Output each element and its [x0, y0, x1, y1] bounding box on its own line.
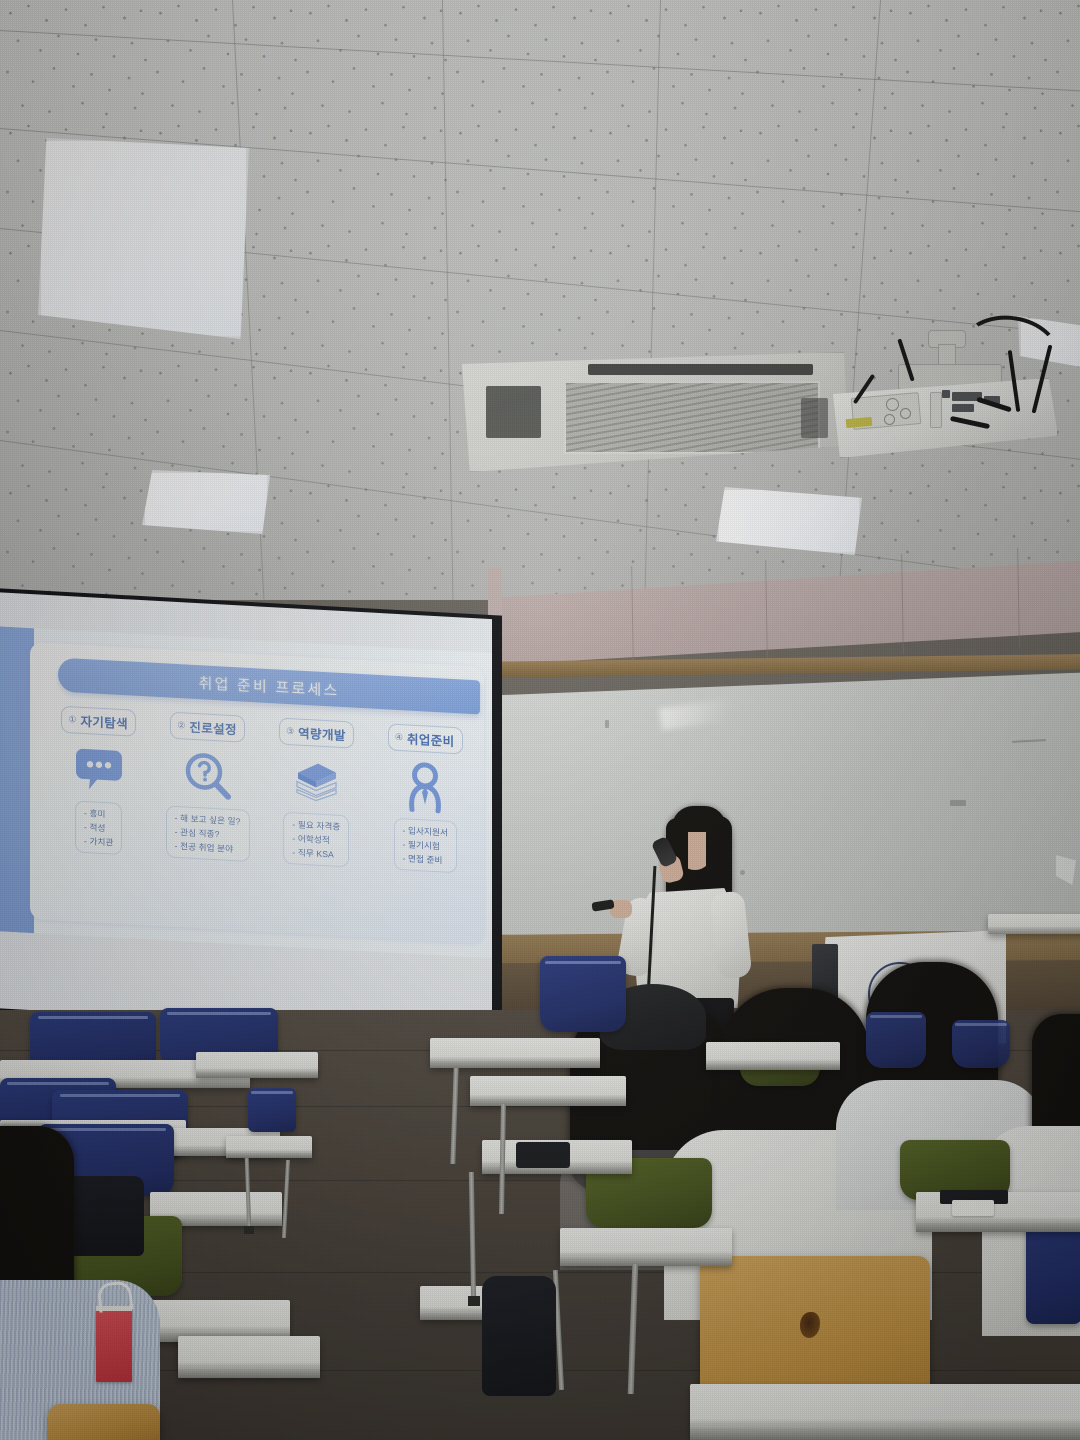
list-item: - 관심 직종?	[175, 826, 241, 842]
presentation-slide: 취업 준비 프로세스 ① 자기탐색	[0, 626, 492, 958]
column-2-title: 진로설정	[189, 717, 237, 739]
column-3-bullets: - 필요 자격증 - 어학성적 - 직무 KSA	[283, 812, 349, 868]
slide-column-3: ③ 역량개발	[268, 717, 366, 923]
white-lecture-desk	[430, 1038, 600, 1068]
juice-carton-with-straw	[96, 1310, 132, 1382]
slide-title-banner: 취업 준비 프로세스	[58, 658, 480, 715]
side-table	[988, 914, 1080, 934]
navy-lecture-chair[interactable]	[866, 1012, 926, 1068]
slide-sidebar-band	[0, 626, 34, 933]
navy-lecture-chair[interactable]	[248, 1088, 296, 1132]
magnifier-question-icon	[185, 748, 231, 802]
list-item: - 적성	[84, 821, 113, 835]
books-icon	[292, 754, 340, 809]
slide-column-1: ① 자기탐색	[50, 705, 148, 911]
ceiling	[0, 0, 1080, 600]
black-backpack	[482, 1276, 556, 1396]
navy-lecture-chair[interactable]	[540, 956, 626, 1032]
column-3-number: ③	[286, 726, 294, 737]
list-item: - 전공 취업 분야	[175, 840, 241, 856]
list-item: - 가치관	[84, 835, 113, 849]
slide-columns: ① 자기탐색	[50, 705, 474, 929]
column-1-bullets: - 흥미 - 적성 - 가치관	[75, 800, 122, 855]
column-2-header: ② 진로설정	[170, 712, 245, 743]
column-3-header: ③ 역량개발	[279, 718, 354, 749]
white-lecture-desk	[226, 1136, 312, 1158]
white-lecture-desk	[196, 1052, 318, 1078]
wooden-chair[interactable]	[48, 1404, 160, 1440]
ceiling-led-panel	[142, 470, 270, 534]
slide-title: 취업 준비 프로세스	[199, 672, 340, 701]
navy-lecture-chair[interactable]	[952, 1020, 1010, 1068]
column-2-number: ②	[177, 720, 185, 731]
column-4-title: 취업준비	[407, 728, 455, 750]
column-1-number: ①	[68, 714, 76, 725]
projection-screen: 취업 준비 프로세스 ① 자기탐색	[0, 588, 502, 1046]
column-1-title: 자기탐색	[80, 711, 128, 733]
white-lecture-desk	[690, 1384, 1080, 1440]
classroom-photo: 취업 준비 프로세스 ① 자기탐색	[0, 0, 1080, 1440]
column-4-header: ④ 취업준비	[388, 723, 463, 754]
list-item: - 필요 자격증	[292, 818, 340, 833]
list-item: - 입사지원서	[403, 824, 448, 838]
column-1-header: ① 자기탐색	[61, 706, 136, 737]
white-pencil-case	[952, 1200, 994, 1216]
list-item: - 해 보고 싶은 일?	[175, 812, 241, 828]
list-item: - 어학성적	[292, 832, 340, 847]
tablet-on-desk	[516, 1142, 570, 1168]
person-tie-icon	[404, 760, 446, 814]
straw-icon	[97, 1280, 134, 1312]
slide-content-card: 취업 준비 프로세스 ① 자기탐색	[30, 642, 484, 944]
ceiling-led-panel	[38, 138, 249, 339]
list-item: - 필기시험	[403, 838, 448, 852]
white-lecture-desk	[706, 1042, 840, 1070]
column-4-bullets: - 입사지원서 - 필기시험 - 면접 준비	[394, 818, 457, 873]
list-item: - 직무 KSA	[292, 846, 340, 861]
column-3-title: 역량개발	[298, 723, 346, 745]
column-2-bullets: - 해 보고 싶은 일? - 관심 직종? - 전공 취업 분야	[166, 805, 250, 862]
column-4-number: ④	[395, 732, 403, 743]
list-item: - 흥미	[84, 807, 113, 821]
white-lecture-desk	[560, 1228, 732, 1266]
white-lecture-desk	[178, 1336, 320, 1378]
slide-column-2: ② 진로설정	[159, 711, 257, 917]
list-item: - 면접 준비	[403, 852, 448, 866]
white-lecture-desk	[470, 1076, 626, 1106]
speech-bubble-icon	[75, 742, 123, 797]
slide-column-4: ④ 취업준비 - 입사지원서	[376, 723, 474, 929]
